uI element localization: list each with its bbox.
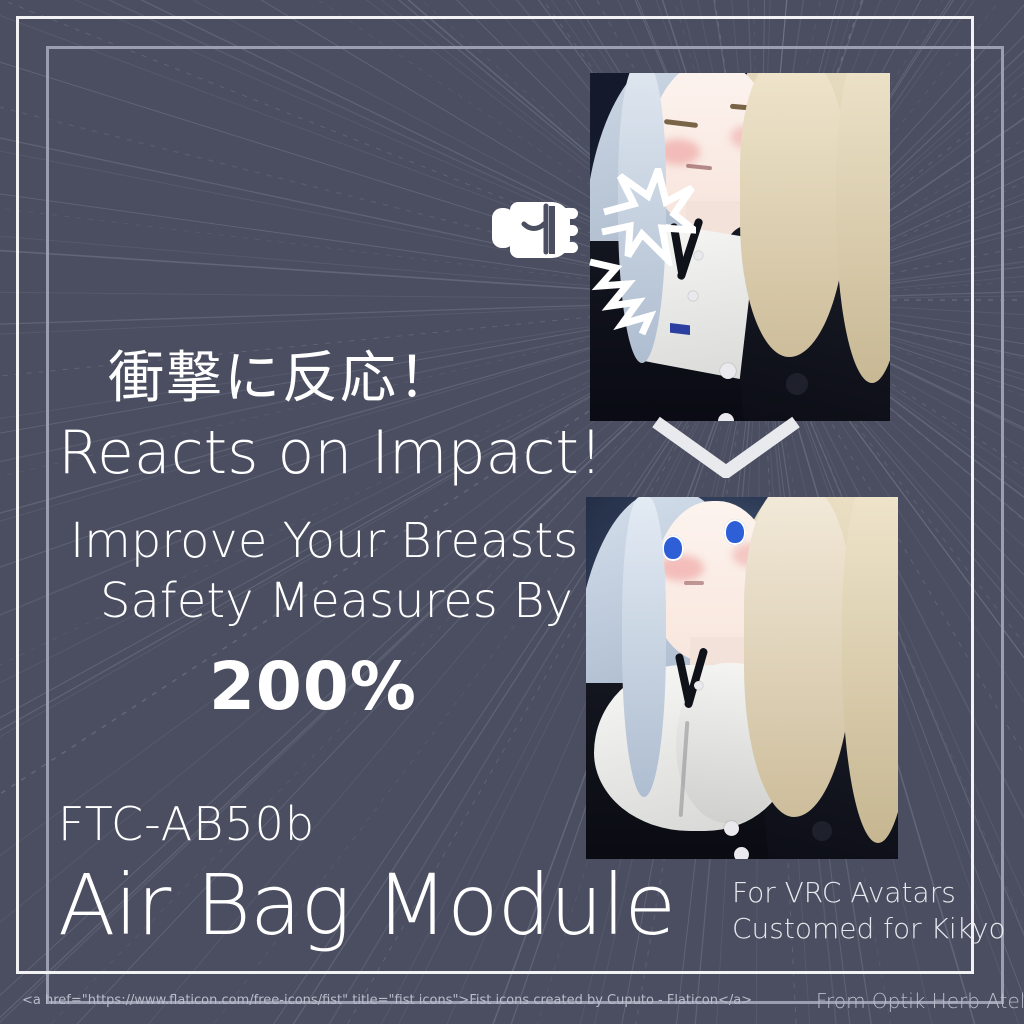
avatar-screenshot-after [586,497,898,859]
percent-value: 200% [209,648,417,725]
product-note-2: Customed for Kikyo [732,912,1006,945]
brand-credit: From Optik Herb Atelier [816,989,1024,1013]
attribution-credit: <a href="https://www.flaticon.com/free-i… [22,993,752,1008]
body-line-1: Improve Your Breasts [70,513,578,569]
body-line-2: Safety Measures By [100,573,573,629]
chevron-down-icon [652,416,800,478]
impact-burst-small-icon [588,250,668,336]
product-note-1: For VRC Avatars [732,876,956,909]
product-model-code: FTC-AB50b [58,797,315,851]
headline-japanese: 衝撃に反応！ [108,333,456,414]
product-name: Air Bag Module [58,856,675,954]
promo-banner: 衝撃に反応！ Reacts on Impact! Improve Your Br… [0,0,1024,1024]
headline-english: Reacts on Impact! [58,418,603,488]
fist-icon [492,190,588,270]
